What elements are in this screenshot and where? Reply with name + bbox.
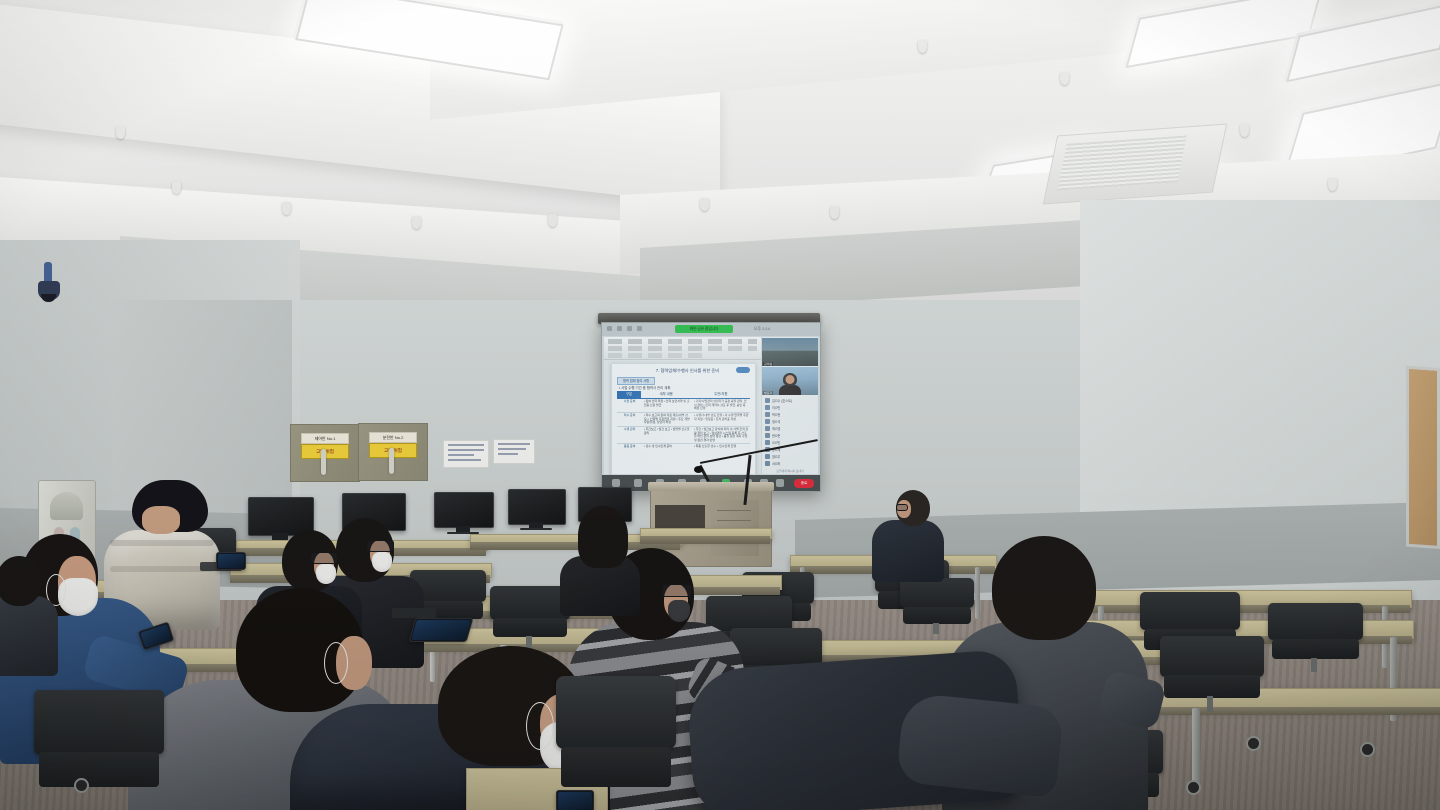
end-meeting-label: 종료	[794, 479, 814, 488]
projector-screen: 화면 공유 중입니다 오후 2:14 7. 협력업체/수행사 인사를 위한 준비…	[601, 322, 821, 492]
face-mask	[316, 564, 336, 584]
menu-icon[interactable]	[637, 326, 642, 331]
slide-table-row: 착수 준비 • 착수 보고회 참여 자료 제출(내부 검토) • 인력별 주관업…	[617, 413, 750, 427]
slide-table-cell: 착수 준비	[617, 413, 642, 426]
sprinkler-icon	[1240, 124, 1249, 137]
screen-share-badge: 화면 공유 중입니다	[675, 325, 733, 333]
participant-name: 김O수 (호스트)	[772, 398, 792, 403]
home-icon[interactable]	[607, 326, 612, 331]
slide-table-row: 사전 준비 • 참여 인력 확정 • 인력 보안서약 및 출입증 신청 발급 •…	[617, 399, 750, 413]
wall-notice-2	[493, 439, 535, 464]
sprinkler-icon	[116, 126, 125, 139]
document-ribbon	[604, 337, 761, 360]
caster-wheel	[1186, 780, 1201, 795]
sprinkler-icon	[282, 202, 291, 215]
slide-table-header-row: 구분 세부 내용 주관/지원	[617, 391, 750, 399]
slide-table-row: 수행 관리 • 주간보고 / 월간 보고 • 월말별 산출물 관리 • 주간 /…	[617, 427, 750, 444]
video-thumbnail-label: 강의실	[763, 362, 773, 366]
slide-bullet: • 사업 수행 기간 중 협력사 관리 계획	[619, 385, 670, 390]
slide-tag-label: 협력 업체 참여 사항	[618, 378, 654, 384]
chair[interactable]	[34, 690, 164, 800]
caster-wheel	[74, 778, 89, 793]
zoom-side-panel: 강의실 발표자 김O수 (호스트) 이O민 박O현 정O석 최O영 한O준 오O…	[762, 337, 818, 474]
list-item[interactable]: 이O민	[762, 404, 818, 411]
sprinkler-icon	[1060, 72, 1069, 85]
participant-name: 박O현	[772, 412, 780, 417]
mask-ear-loop	[526, 702, 554, 750]
caster-wheel	[1246, 736, 1261, 751]
list-item[interactable]: 장O우	[762, 453, 818, 460]
screen-share-badge-label: 화면 공유 중입니다	[675, 325, 733, 333]
slide-table-cell: • 기획/사업관리 담당자가 공정 총괄 관리, 인사 협의 • 인력 계약서 …	[692, 399, 750, 412]
microphone-icon	[694, 466, 703, 473]
shield-icon[interactable]	[617, 326, 622, 331]
tablet[interactable]	[216, 552, 246, 570]
slide-table-cell: 사전 준비	[617, 399, 642, 412]
slide-table-cell: • 참여 인력 확정 • 인력 보안서약 및 출입증 신청 발급	[642, 399, 692, 412]
chair[interactable]	[556, 676, 676, 802]
person-icon	[765, 461, 770, 466]
glasses-icon	[896, 504, 908, 511]
mute-icon[interactable]	[612, 479, 620, 487]
slide-table-cell: • 수행사 내부 검토 진행 • 각 수행 업무별 주관자 지정 • 일정표 /…	[692, 413, 750, 426]
ac-grille-icon	[1057, 135, 1187, 190]
electrical-cabinet-1: 제어반 No.1 고압 위험	[290, 424, 360, 482]
desk-leg	[1192, 708, 1200, 786]
classroom-photo: 제어반 No.1 고압 위험 분전반 No.2 고압 위험 화면 공유 중입니다…	[0, 0, 1440, 810]
slide-table-header-cell: 구분	[617, 391, 641, 398]
chat-hint: 모두에게 메시지 보내기	[762, 469, 818, 473]
video-thumbnail-room[interactable]: 강의실	[762, 338, 818, 366]
participant-name: 이O민	[772, 405, 780, 410]
person-icon	[765, 419, 770, 424]
cabinet-handle[interactable]	[321, 449, 326, 475]
video-icon[interactable]	[634, 479, 642, 487]
cabinet-handle[interactable]	[389, 448, 394, 474]
slide-table-cell: 종료 준비	[617, 444, 642, 457]
cabinet-label: 제어반 No.1	[301, 433, 349, 444]
presentation-slide: 7. 협력업체/수행사 인사를 위한 준비 협력 업체 참여 사항 • 사업 수…	[611, 363, 756, 475]
participant-name: 장O우	[772, 454, 780, 459]
zoom-titlebar-icons	[607, 326, 667, 333]
sprinkler-icon	[548, 214, 557, 227]
bulletin-board	[1406, 366, 1440, 549]
cabinet-label: 분전반 No.2	[369, 432, 417, 443]
zoom-window-titlebar: 화면 공유 중입니다 오후 2:14	[602, 323, 820, 336]
person-long-hair	[554, 506, 646, 616]
chair[interactable]	[1268, 603, 1363, 667]
person-icon	[765, 454, 770, 459]
keyboard[interactable]	[392, 608, 436, 618]
end-meeting-button[interactable]: 종료	[794, 479, 814, 488]
video-thumbnail-label: 발표자	[763, 391, 773, 395]
caster-wheel	[1360, 742, 1375, 757]
list-item[interactable]: 한O준	[762, 432, 818, 439]
slide-table-cell: • 주간보고 / 월간 보고 • 월말별 산출물 관리	[642, 427, 692, 443]
slide-table-header-cell: 주관/지원	[691, 391, 750, 398]
participant-name: 오O빈	[772, 440, 780, 445]
desk	[640, 528, 770, 537]
participant-name: 서O하	[772, 461, 780, 466]
person-icon	[765, 440, 770, 445]
slide-table-header-cell: 세부 내용	[641, 391, 692, 398]
participant-name: 최O영	[772, 426, 780, 431]
shared-screen-area: 7. 협력업체/수행사 인사를 위한 준비 협력 업체 참여 사항 • 사업 수…	[604, 337, 761, 474]
monitor	[434, 492, 492, 534]
clock-label: 오후 2:14	[754, 326, 770, 332]
participant-name: 정O석	[772, 419, 780, 424]
slide-table-cell: • 착수 보고회 참여 자료 제출(내부 검토) • 인력별 주관업무 지정 •…	[642, 413, 692, 426]
sprinkler-icon	[412, 216, 421, 229]
glasses-icon	[366, 540, 394, 552]
slide-table-cell: 수행 관리	[617, 427, 642, 443]
glasses-icon	[662, 584, 692, 597]
person-icon	[765, 433, 770, 438]
slide-tag: 협력 업체 참여 사항	[617, 377, 655, 385]
sprinkler-icon	[700, 198, 709, 211]
list-item[interactable]: 서O하	[762, 460, 818, 467]
list-item[interactable]: 정O석	[762, 418, 818, 425]
person-icon	[765, 412, 770, 417]
list-item[interactable]: 김O수 (호스트)	[762, 397, 818, 404]
tablet[interactable]	[409, 618, 474, 642]
wall-notice-1	[443, 440, 489, 468]
person-icon	[765, 398, 770, 403]
person-icon	[765, 426, 770, 431]
glasses-icon	[310, 552, 338, 564]
lectern-top	[648, 482, 774, 491]
grid-icon[interactable]	[627, 326, 632, 331]
slide-title: 7. 협력업체/수행사 인사를 위한 준비	[634, 367, 741, 374]
participant-name: 한O준	[772, 433, 780, 438]
sprinkler-icon	[172, 181, 181, 194]
more-icon[interactable]	[776, 479, 784, 487]
electrical-cabinet-2: 분전반 No.2 고압 위험	[358, 423, 428, 481]
sprinkler-icon	[1328, 178, 1337, 191]
water-dispenser-window	[50, 492, 83, 520]
chair[interactable]	[1160, 636, 1264, 706]
company-logo	[736, 367, 750, 373]
face-mask	[668, 600, 690, 622]
draped-coat-secondary	[896, 692, 1065, 798]
slide-table-cell: • 검수 및 인수인계 준비	[642, 444, 692, 457]
slide-table-cell: • 주간 / 월간보고 양식에 따라 각 사별 진척 현황 정리 보고 • 형상…	[692, 427, 750, 443]
list-item[interactable]: 최O영	[762, 425, 818, 432]
speaker-face	[786, 375, 795, 384]
person-icon	[765, 405, 770, 410]
participants-list: 김O수 (호스트) 이O민 박O현 정O석 최O영 한O준 오O빈 윤O재 장O…	[762, 397, 818, 467]
speaker-body	[779, 385, 801, 395]
face-mask	[372, 552, 392, 572]
list-item[interactable]: 박O현	[762, 411, 818, 418]
sprinkler-icon	[918, 40, 927, 53]
video-thumbnail-speaker[interactable]: 발표자	[762, 367, 818, 395]
sprinkler-icon	[830, 206, 839, 219]
person-left-edge	[0, 556, 60, 676]
